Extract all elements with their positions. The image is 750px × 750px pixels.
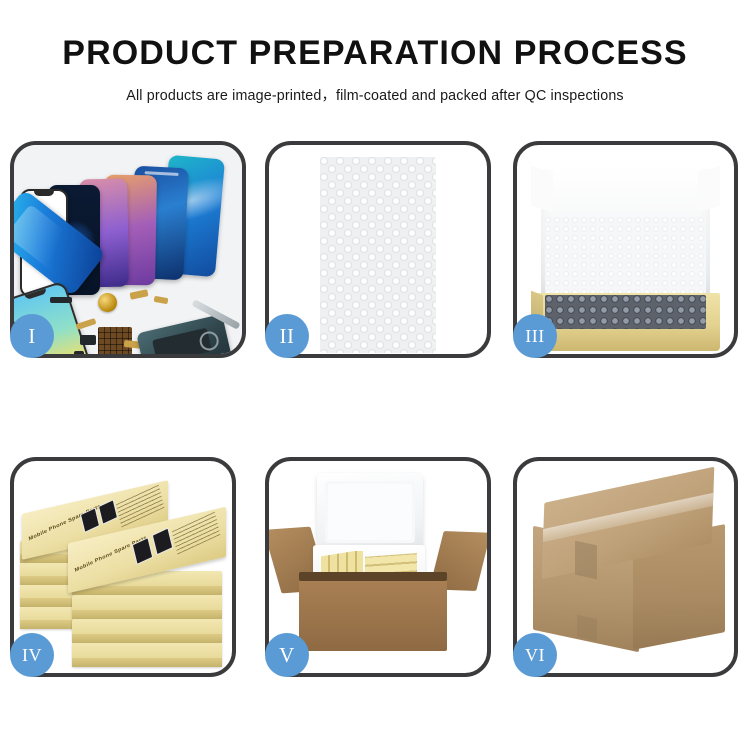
carton-seam: [577, 615, 597, 641]
step-panel-2[interactable]: II: [265, 141, 491, 358]
shipping-carton-open: [299, 579, 447, 651]
bubble-wrap-bag: [320, 157, 436, 353]
step-panel-6[interactable]: VI: [513, 457, 738, 677]
step-panel-5[interactable]: V: [265, 457, 491, 677]
step-panel-3[interactable]: III: [513, 141, 738, 358]
bubble-wrapped-contents: [545, 295, 706, 329]
step-badge-6: VI: [513, 633, 557, 677]
small-part: [50, 297, 72, 303]
foam-lid: [317, 473, 423, 551]
bubble-texture: [320, 157, 436, 353]
foam-sheet: [545, 217, 706, 303]
carton-seam: [575, 541, 597, 580]
small-part: [80, 335, 96, 345]
step-badge-3: III: [513, 314, 557, 358]
step-badge-1: I: [10, 314, 54, 358]
page-title: PRODUCT PREPARATION PROCESS: [0, 34, 750, 73]
speaker-coil-part: [98, 293, 117, 312]
step-panel-1[interactable]: I: [10, 141, 246, 358]
step-badge-2: II: [265, 314, 309, 358]
sealed-carton: [533, 485, 725, 651]
kraft-box-tray: [531, 293, 720, 351]
page-subtitle: All products are image-printed，film-coat…: [0, 84, 750, 105]
product-preparation-infographic: PRODUCT PREPARATION PROCESS All products…: [0, 0, 750, 750]
small-part: [74, 351, 84, 354]
step-badge-5: V: [265, 633, 309, 677]
step-panel-4[interactable]: Mobile Phone Spare Parts Mobile Phone Sp…: [10, 457, 236, 677]
step-badge-4: IV: [10, 633, 54, 677]
